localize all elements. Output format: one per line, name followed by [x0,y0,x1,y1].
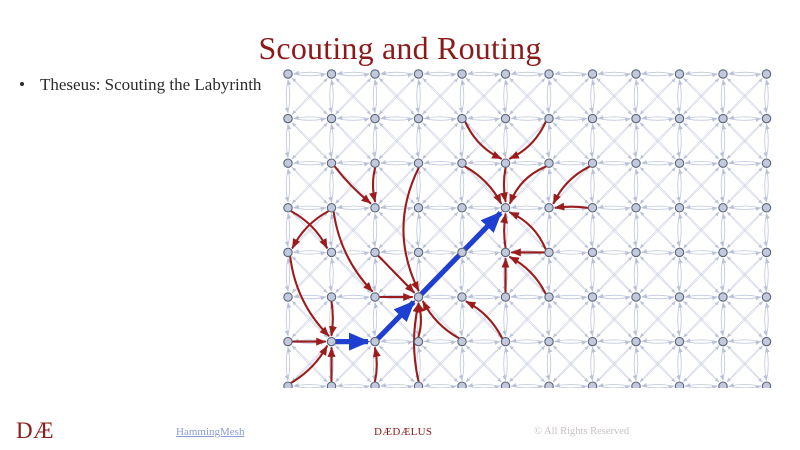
scout-arrow [556,207,588,208]
mesh-node [545,159,553,167]
mesh-node [501,70,509,78]
mesh-node [762,159,770,167]
footer-brand: DÆDÆLUS [374,425,432,439]
mesh-node [458,159,466,167]
mesh-node [675,293,683,301]
mesh-node [458,204,466,212]
mesh-node [284,204,292,212]
mesh-node [675,382,683,388]
bullet-item-label: Theseus: Scouting the Labyrinth [40,75,261,94]
mesh-node [414,114,422,122]
presentation-slide: Scouting and Routing Theseus: Scouting t… [0,0,800,450]
footer-copyright: © All Rights Reserved [534,425,629,439]
mesh-node [632,248,640,256]
mesh-node [675,114,683,122]
mesh-node [545,382,553,388]
mesh-node [632,382,640,388]
mesh-node [458,248,466,256]
mesh-node [284,248,292,256]
mesh-node [501,293,509,301]
mesh-node [588,337,596,345]
mesh-node [588,382,596,388]
bullet-list: Theseus: Scouting the Labyrinth [14,72,264,97]
mesh-node [458,114,466,122]
mesh-node [632,159,640,167]
mesh-node [327,114,335,122]
route-arrow [378,302,414,339]
bullet-dot-icon [20,82,24,86]
mesh-node [414,293,422,301]
mesh-node [284,70,292,78]
mesh-node [327,337,335,345]
mesh-network-svg [266,58,788,388]
mesh-node [371,159,379,167]
mesh-node [284,293,292,301]
mesh-node [762,337,770,345]
mesh-node [371,337,379,345]
mesh-node [632,293,640,301]
mesh-node [675,204,683,212]
mesh-node [762,248,770,256]
mesh-node [414,159,422,167]
mesh-node [719,114,727,122]
mesh-node [414,70,422,78]
mesh-node [719,159,727,167]
mesh-node [588,248,596,256]
mesh-node [545,293,553,301]
mesh-node [762,70,770,78]
mesh-node [501,159,509,167]
scout-arrow [403,168,418,290]
mesh-node [719,248,727,256]
bullet-item: Theseus: Scouting the Labyrinth [14,72,264,97]
mesh-node [632,337,640,345]
mesh-node [284,382,292,388]
mesh-node [762,293,770,301]
mesh-node [327,293,335,301]
mesh-node [719,70,727,78]
mesh-node [632,204,640,212]
footer-logo: DÆ [16,417,54,444]
mesh-node [458,70,466,78]
slide-footer: DÆ HammingMesh DÆDÆLUS © All Rights Rese… [0,415,800,450]
mesh-node [371,204,379,212]
mesh-node [675,248,683,256]
mesh-node [284,114,292,122]
mesh-node [458,293,466,301]
mesh-node [545,70,553,78]
mesh-node [545,204,553,212]
mesh-node [545,248,553,256]
mesh-node [632,70,640,78]
mesh-node [414,337,422,345]
mesh-node [501,382,509,388]
mesh-node [588,204,596,212]
mesh-node [675,70,683,78]
mesh-node [414,382,422,388]
mesh-node [414,204,422,212]
mesh-node [588,114,596,122]
mesh-node [284,159,292,167]
mesh-node [371,382,379,388]
mesh-node [762,204,770,212]
scout-arrow [504,168,506,201]
mesh-node [501,204,509,212]
mesh-node [371,70,379,78]
mesh-node [762,114,770,122]
mesh-node [327,204,335,212]
mesh-node [327,159,335,167]
mesh-node [632,114,640,122]
mesh-node [414,248,422,256]
mesh-node [458,382,466,388]
mesh-node [588,70,596,78]
scout-arrow [504,214,505,247]
mesh-node [371,293,379,301]
mesh-node [719,337,727,345]
scout-arrow [373,168,375,201]
mesh-node [719,293,727,301]
scout-arrow [375,348,377,381]
mesh-node [762,382,770,388]
mesh-node [719,204,727,212]
mesh-node [588,293,596,301]
mesh-node [719,382,727,388]
mesh-node [545,337,553,345]
footer-link-hammingmesh[interactable]: HammingMesh [176,425,244,439]
mesh-node [588,159,596,167]
mesh-node [284,337,292,345]
mesh-node [458,337,466,345]
scout-arrow [332,302,333,335]
scout-arrow [419,304,421,337]
mesh-routing-diagram [266,58,788,388]
mesh-node [327,70,335,78]
mesh-node [675,337,683,345]
mesh-node [545,114,553,122]
mesh-node [327,248,335,256]
mesh-node [501,337,509,345]
mesh-node [501,248,509,256]
mesh-node [371,114,379,122]
mesh-node [501,114,509,122]
mesh-node [371,248,379,256]
mesh-node [327,382,335,388]
mesh-node [675,159,683,167]
